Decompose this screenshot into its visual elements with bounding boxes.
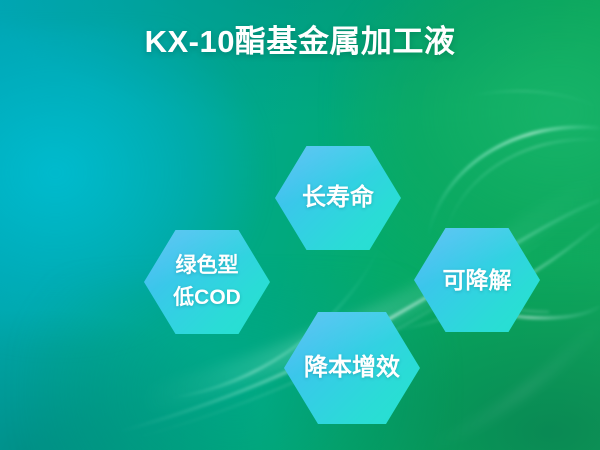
poster-canvas: KX-10酯基金属加工液 长寿命 绿色型 低COD 可降解 降本增效: [0, 0, 600, 450]
feature-label-green-type: 绿色型: [176, 254, 239, 278]
feature-label-low-cod: 低COD: [173, 286, 241, 310]
page-title: KX-10酯基金属加工液: [0, 16, 600, 61]
feature-label-cost-efficiency: 降本增效: [304, 354, 400, 382]
feature-label-long-life: 长寿命: [302, 184, 374, 212]
feature-label-biodegradable: 可降解: [443, 267, 512, 293]
